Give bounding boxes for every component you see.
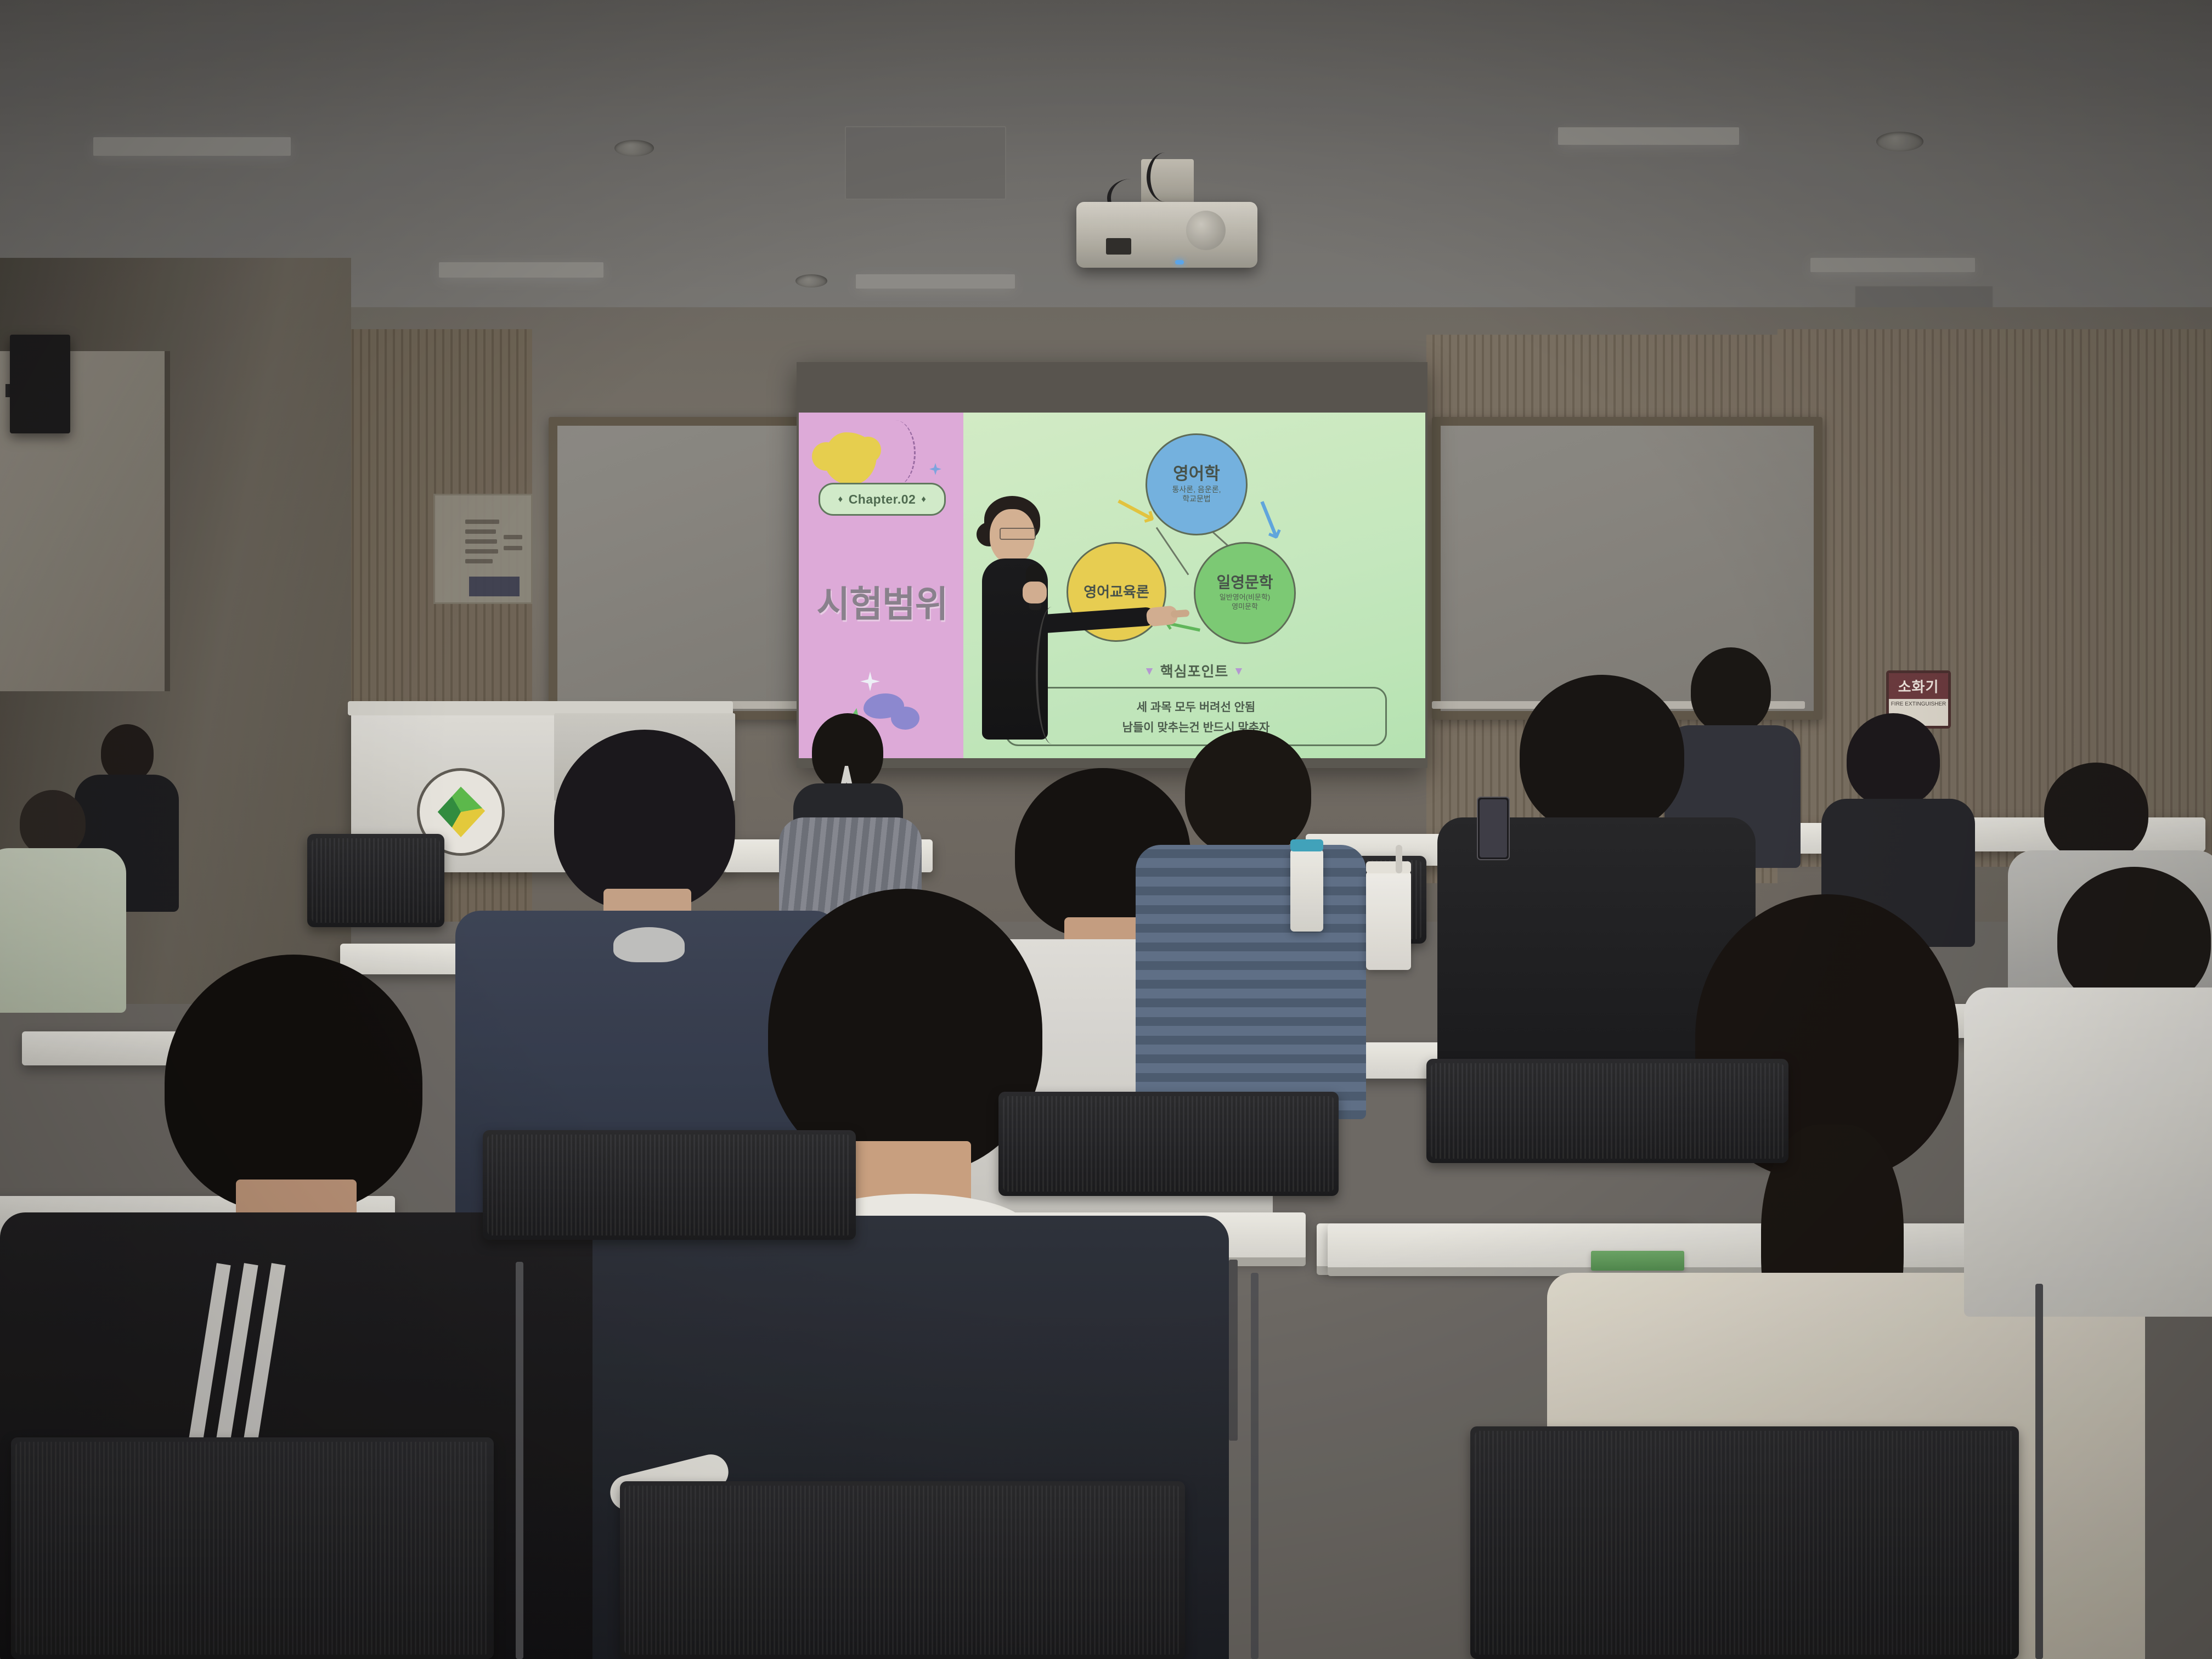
ceiling-speaker-icon bbox=[1876, 132, 1923, 151]
node-literature: 일영문학 일반영어(비문학) 영미문학 bbox=[1194, 542, 1296, 644]
poster-line bbox=[465, 520, 499, 524]
wall-monitor bbox=[10, 335, 70, 433]
sparkle-icon bbox=[929, 463, 941, 475]
projector-power-led bbox=[1175, 260, 1184, 264]
ceiling-speaker-icon bbox=[614, 140, 654, 156]
poster-block bbox=[469, 577, 520, 596]
chair-post bbox=[516, 1262, 523, 1659]
presenter-hand-holding-mic bbox=[1023, 582, 1047, 603]
chair-mesh-back bbox=[312, 838, 440, 923]
node-label: 일영문학 bbox=[1216, 575, 1273, 590]
node-sublabel: 일반영어(비문학) 영미문학 bbox=[1220, 593, 1270, 611]
glasses-icon bbox=[1000, 528, 1036, 540]
flower-decoration-icon bbox=[824, 432, 877, 485]
dashed-curve-decoration bbox=[876, 420, 916, 486]
chair-post bbox=[2035, 1284, 2043, 1659]
screen-header-band bbox=[797, 362, 1427, 413]
ceiling-light-panel bbox=[1558, 127, 1739, 145]
microphone-cable bbox=[1036, 607, 1068, 744]
slide-left-panel: ♦ Chapter.02 ♦ 시험범위 bbox=[799, 413, 963, 758]
phone-screen bbox=[1480, 799, 1507, 857]
chair-front-center[interactable] bbox=[620, 1481, 1185, 1659]
triangle-down-icon: ▼ bbox=[1233, 665, 1245, 678]
phone-held-recording[interactable] bbox=[1477, 797, 1510, 860]
tumbler-white[interactable] bbox=[1366, 871, 1411, 970]
student-head bbox=[2044, 763, 2148, 861]
smoke-detector-icon bbox=[795, 274, 827, 287]
projector-port bbox=[1106, 238, 1131, 255]
tumbler-lid-icon bbox=[1366, 861, 1411, 873]
node-label: 영어학 bbox=[1173, 465, 1220, 482]
slide-title: 시험범위 bbox=[813, 575, 951, 628]
bottle-cap-icon bbox=[1290, 839, 1323, 851]
student-white-hoodie-body bbox=[1964, 988, 2212, 1317]
chair-mesh-back bbox=[15, 1442, 489, 1655]
chair-mesh-back bbox=[1431, 1063, 1784, 1159]
diamond-icon: ♦ bbox=[921, 494, 926, 505]
chair-mid-far-right[interactable] bbox=[1426, 1059, 1788, 1163]
chapter-badge-label: Chapter.02 bbox=[849, 492, 916, 507]
wall-notice-poster bbox=[433, 494, 533, 604]
ceiling-light-panel bbox=[856, 274, 1015, 289]
projector-body bbox=[1076, 202, 1257, 268]
chair-mid-left[interactable] bbox=[483, 1130, 856, 1240]
poster-line bbox=[465, 529, 496, 534]
sparkle-icon bbox=[860, 672, 880, 691]
chair-mesh-back bbox=[487, 1135, 851, 1235]
lecture-hall-photo: 소화기 FIRE EXTINGUISHER ♦ Chapter.02 ♦ 시험범… bbox=[0, 0, 2212, 1659]
student-head bbox=[554, 730, 735, 911]
chair bbox=[307, 834, 444, 927]
student-head bbox=[1185, 730, 1311, 856]
arrow-down-icon: ⟶ bbox=[1248, 494, 1291, 545]
poster-line bbox=[465, 559, 493, 563]
desk-leg bbox=[1229, 1260, 1238, 1441]
diamond-icon: ♦ bbox=[838, 494, 843, 505]
student-head bbox=[165, 955, 422, 1212]
chair-mid-right[interactable] bbox=[998, 1092, 1339, 1196]
projector-lens-icon bbox=[1186, 211, 1226, 250]
whiteboard-left bbox=[549, 417, 830, 720]
chair-front-left[interactable] bbox=[11, 1437, 494, 1659]
chair-mesh-back bbox=[624, 1486, 1181, 1655]
presenter-pointing-finger bbox=[1171, 610, 1190, 618]
ceiling-light-panel bbox=[439, 262, 603, 278]
poster-line bbox=[504, 546, 522, 550]
student-head bbox=[20, 790, 86, 856]
student-head bbox=[1847, 713, 1940, 806]
student-head bbox=[101, 724, 154, 781]
student-head bbox=[1520, 675, 1684, 834]
tumbler-straw-icon bbox=[1396, 845, 1402, 873]
ceiling-light-panel bbox=[93, 137, 291, 156]
poster-line bbox=[465, 549, 498, 554]
chair-mesh-back bbox=[1475, 1431, 2015, 1655]
chair-post bbox=[1251, 1273, 1259, 1659]
ceiling-vent bbox=[845, 126, 1006, 200]
chapter-badge: ♦ Chapter.02 ♦ bbox=[819, 483, 946, 516]
fire-sign-title: 소화기 bbox=[1889, 673, 1948, 699]
student-white-hoodie bbox=[1975, 867, 2212, 1317]
poster-line bbox=[504, 535, 522, 539]
water-bottle-teal[interactable] bbox=[1290, 849, 1323, 932]
ceiling-light-panel bbox=[1810, 258, 1975, 272]
poster-line bbox=[465, 539, 497, 544]
chair-front-right[interactable] bbox=[1470, 1426, 2019, 1659]
chair-mesh-back bbox=[1003, 1096, 1334, 1192]
projector bbox=[1076, 159, 1263, 274]
